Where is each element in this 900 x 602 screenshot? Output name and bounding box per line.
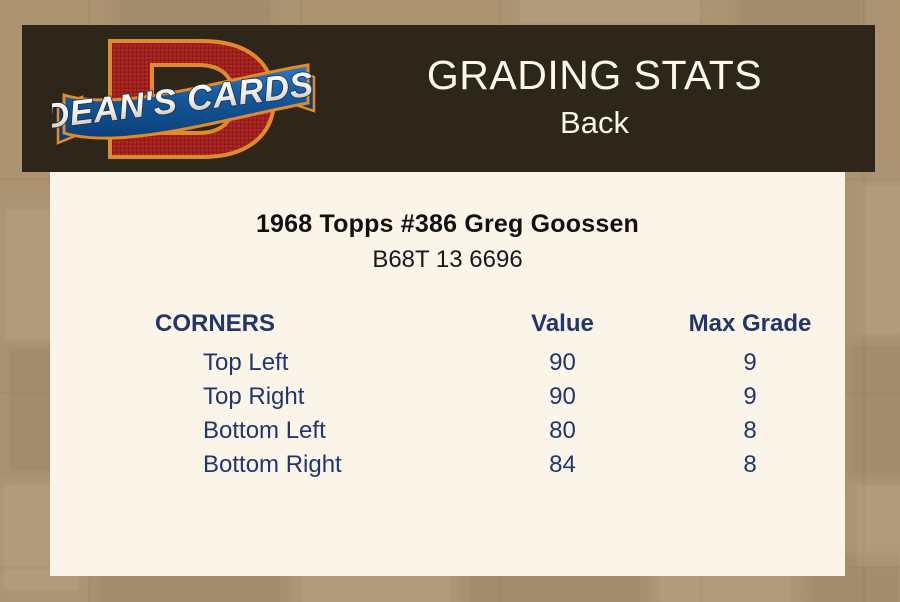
row-max-grade: 9 — [655, 346, 845, 380]
row-value: 90 — [470, 380, 655, 414]
header-bar: DEAN'S CARDS GRADING STATS Back — [22, 25, 875, 172]
deans-cards-logo[interactable]: DEAN'S CARDS — [52, 29, 320, 169]
column-header-value: Value — [470, 310, 655, 346]
table-header-row: CORNERS Value Max Grade — [50, 310, 845, 346]
page-subtitle: Back — [322, 103, 867, 143]
card-code: B68T 13 6696 — [50, 246, 845, 274]
table-row: Bottom Right 84 8 — [50, 448, 845, 482]
column-header-max-grade: Max Grade — [655, 310, 845, 346]
table-row: Top Right 90 9 — [50, 380, 845, 414]
row-value: 90 — [470, 346, 655, 380]
row-label: Top Right — [50, 380, 470, 414]
row-label: Bottom Left — [50, 414, 470, 448]
table-row: Top Left 90 9 — [50, 346, 845, 380]
page-title: GRADING STATS — [322, 51, 867, 99]
row-value: 80 — [470, 414, 655, 448]
row-max-grade: 8 — [655, 414, 845, 448]
row-label: Bottom Right — [50, 448, 470, 482]
row-max-grade: 9 — [655, 380, 845, 414]
row-value: 84 — [470, 448, 655, 482]
content-panel: 1968 Topps #386 Greg Goossen B68T 13 669… — [50, 172, 845, 576]
table-row: Bottom Left 80 8 — [50, 414, 845, 448]
grading-stats-table: CORNERS Value Max Grade Top Left 90 9 To… — [50, 310, 845, 482]
row-max-grade: 8 — [655, 448, 845, 482]
header-titles: GRADING STATS Back — [322, 51, 867, 143]
column-header-corners: CORNERS — [50, 310, 470, 346]
row-label: Top Left — [50, 346, 470, 380]
card-title: 1968 Topps #386 Greg Goossen — [50, 210, 845, 239]
